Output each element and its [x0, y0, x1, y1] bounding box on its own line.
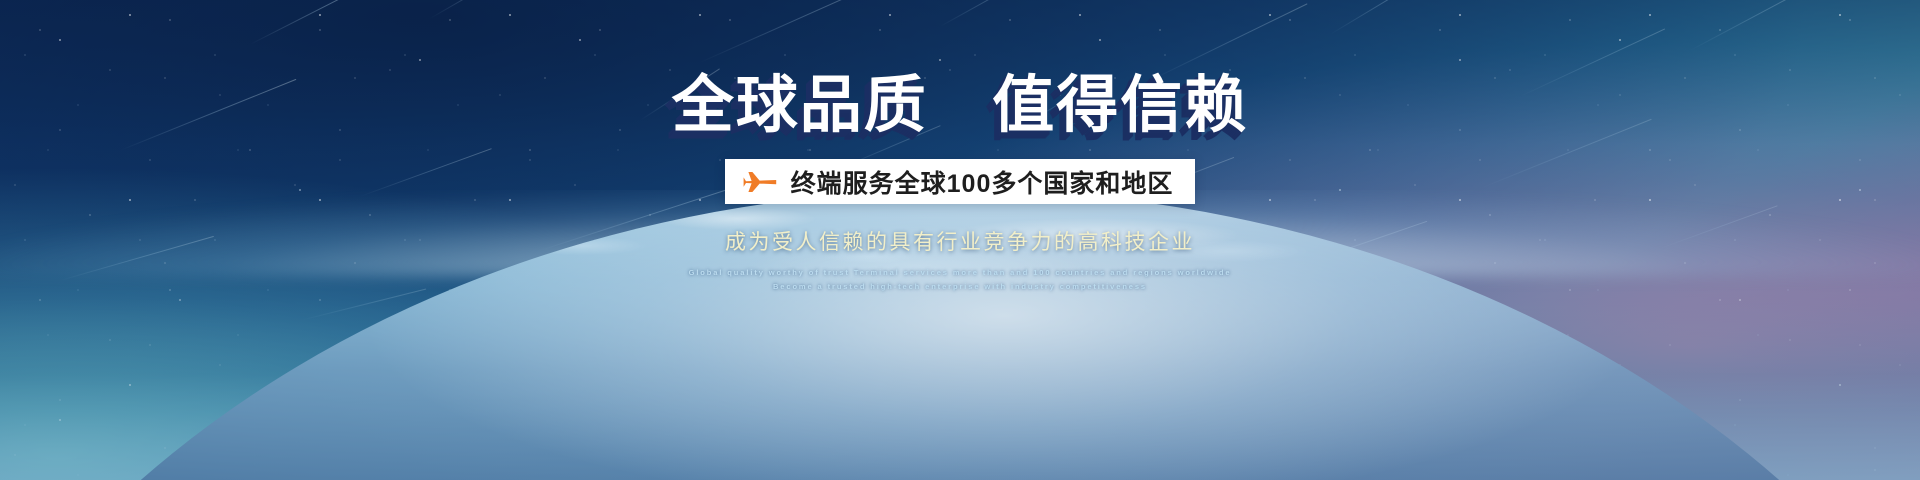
banner-headline: 全球品质 值得信赖: [672, 74, 1249, 138]
english-subtitle-block: Global quality worthy of trust Terminal …: [689, 266, 1232, 294]
banner-content: 全球品质 值得信赖 终端服务全球100多个国家和地区 成为受人信赖的具有行业竞争…: [0, 0, 1920, 480]
hero-banner: 全球品质 值得信赖 终端服务全球100多个国家和地区 成为受人信赖的具有行业竞争…: [0, 0, 1920, 480]
banner-tagline: 成为受人信赖的具有行业竞争力的高科技企业: [725, 226, 1195, 256]
headline-part-1: 全球品质: [672, 71, 928, 140]
service-coverage-pill: 终端服务全球100多个国家和地区: [725, 159, 1196, 204]
english-line-2: Become a trusted high-tech enterprise wi…: [689, 280, 1232, 294]
service-coverage-text: 终端服务全球100多个国家和地区: [791, 164, 1174, 200]
headline-part-2: 值得信赖: [992, 71, 1248, 140]
airplane-icon: [743, 170, 777, 194]
english-line-1: Global quality worthy of trust Terminal …: [689, 266, 1232, 280]
